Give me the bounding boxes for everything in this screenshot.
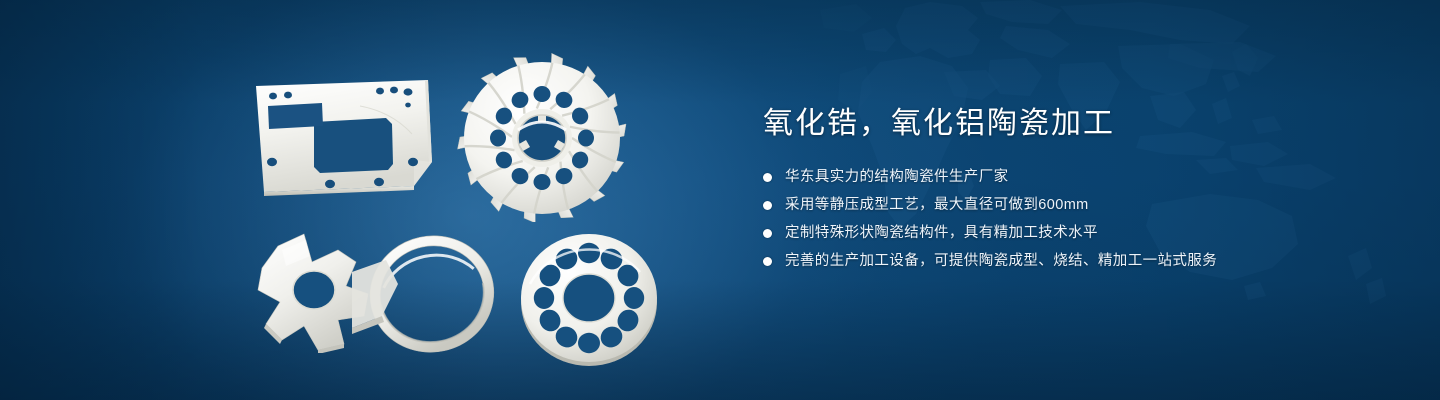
bullet-dot-icon (763, 229, 772, 238)
feature-text: 采用等静压成型工艺，最大直径可做到600mm (785, 194, 1089, 216)
bullet-dot-icon (763, 257, 772, 266)
feature-list: 华东具实力的结构陶瓷件生产厂家 采用等静压成型工艺，最大直径可做到600mm 定… (763, 166, 1383, 272)
ceramic-impeller-disc (452, 52, 632, 222)
ceramic-ring (352, 232, 512, 357)
ceramic-machined-plate (252, 78, 442, 198)
bullet-dot-icon (763, 173, 772, 182)
feature-text: 华东具实力的结构陶瓷件生产厂家 (785, 166, 1009, 188)
banner-copy: 氧化锆，氧化铝陶瓷加工 华东具实力的结构陶瓷件生产厂家 采用等静压成型工艺，最大… (763, 104, 1383, 278)
feature-item: 完善的生产加工设备，可提供陶瓷成型、烧结、精加工一站式服务 (763, 250, 1383, 272)
banner-headline: 氧化锆，氧化铝陶瓷加工 (763, 104, 1383, 144)
ceramic-perforated-disc (514, 228, 664, 368)
feature-item: 采用等静压成型工艺，最大直径可做到600mm (763, 194, 1383, 216)
feature-text: 完善的生产加工设备，可提供陶瓷成型、烧结、精加工一站式服务 (785, 250, 1217, 272)
feature-item: 华东具实力的结构陶瓷件生产厂家 (763, 166, 1383, 188)
bullet-dot-icon (763, 201, 772, 210)
product-photo-group (0, 0, 720, 400)
feature-text: 定制特殊形状陶瓷结构件，具有精加工技术水平 (785, 222, 1098, 244)
feature-item: 定制特殊形状陶瓷结构件，具有精加工技术水平 (763, 222, 1383, 244)
hero-banner: 氧化锆，氧化铝陶瓷加工 华东具实力的结构陶瓷件生产厂家 采用等静压成型工艺，最大… (0, 0, 1440, 400)
